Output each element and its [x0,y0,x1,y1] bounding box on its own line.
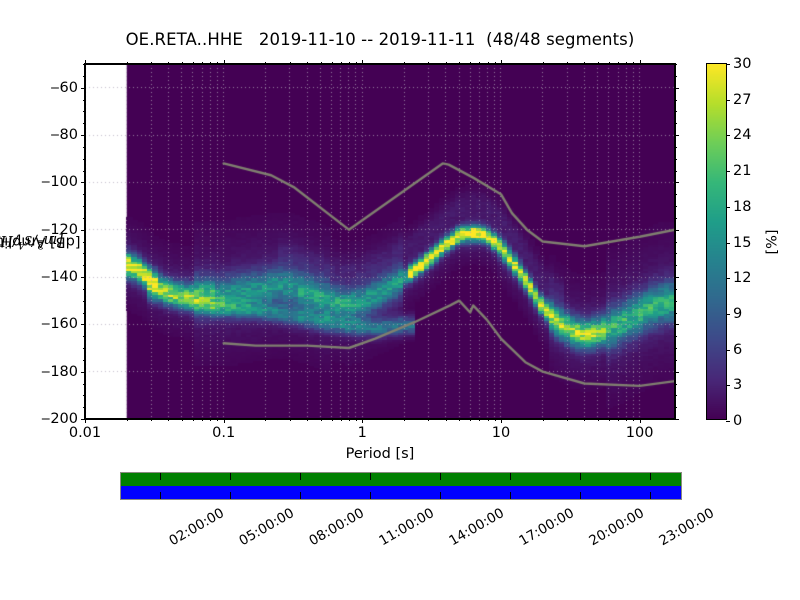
colorbar-tick [726,171,730,172]
axis-tick [83,289,85,290]
y-tick-label: ‒140 [41,269,78,285]
coverage-tick-label: 08:00:00 [306,505,367,549]
colorbar-tick-label: 18 [733,199,751,215]
colorbar-tick [726,350,730,351]
axis-tick [341,419,342,421]
axis-tick [584,62,585,64]
y-tick-label: ‒160 [41,316,78,332]
axis-tick [675,111,677,112]
colorbar-tick [726,385,730,386]
y-tick-label: ‒180 [41,364,78,380]
x-axis-title: Period [s] [84,446,676,462]
axis-tick [83,147,85,148]
x-tick-label: 1 [358,425,367,441]
axis-tick [210,419,211,421]
axis-tick [349,62,350,64]
axis-tick [83,407,85,408]
coverage-tick [370,473,371,480]
axis-tick [675,265,677,266]
coverage-tick [370,492,371,499]
coverage-tick [580,492,581,499]
axis-tick [83,313,85,314]
axis-tick [83,360,85,361]
axis-tick [675,348,677,349]
ppsd-plot-area[interactable]: ‒60‒80‒100‒120‒140‒160‒180‒2000.010.1110… [84,63,676,420]
colorbar-tick [726,243,730,244]
colorbar-tick-label: 21 [733,163,751,179]
coverage-tick [160,473,161,480]
page-title: OE.RETA..HHE 2019-11-10 -- 2019-11-11 (4… [84,30,676,49]
axis-tick [356,419,357,421]
axis-tick [83,100,85,101]
axis-tick [362,60,363,64]
axis-tick [83,301,85,302]
axis-tick [640,60,641,64]
axis-tick [675,76,677,77]
axis-tick [83,76,85,77]
axis-tick [81,230,85,231]
coverage-band-data-coverage [121,473,681,486]
axis-tick [470,419,471,421]
axis-tick [83,395,85,396]
coverage-tick [160,492,161,499]
axis-tick [675,159,677,160]
colorbar-tick-label: 3 [733,377,742,393]
axis-tick [501,419,502,423]
axis-tick [479,419,480,421]
coverage-tick [230,492,231,499]
axis-tick [584,419,585,421]
axis-tick [193,62,194,64]
axis-tick [428,62,429,64]
axis-tick [321,419,322,421]
colorbar-tick-label: 15 [733,235,751,251]
axis-tick [290,419,291,421]
axis-tick [675,407,677,408]
axis-tick [495,419,496,421]
coverage-tick [580,473,581,480]
axis-tick [675,206,677,207]
x-tick-label: 0.01 [69,425,101,441]
axis-tick [81,135,85,136]
axis-tick [202,419,203,421]
axis-tick [83,384,85,385]
axis-tick [675,64,677,65]
axis-tick [543,419,544,421]
coverage-tick [230,473,231,480]
axis-tick [356,62,357,64]
axis-tick [618,419,619,421]
axis-tick [193,419,194,421]
axis-tick [265,419,266,421]
coverage-band-psd-segments [121,486,681,499]
axis-tick [81,372,85,373]
axis-tick [675,100,677,101]
coverage-tick [650,492,651,499]
axis-tick [332,419,333,421]
axis-tick [675,147,677,148]
colorbar-tick [726,135,730,136]
axis-tick [85,419,86,423]
coverage-tick [440,492,441,499]
coverage-tick [440,473,441,480]
coverage-tick-label: 05:00:00 [236,505,297,549]
axis-tick [675,289,677,290]
axis-tick [83,265,85,266]
axis-tick [81,182,85,183]
axis-tick [224,60,225,64]
axis-tick [341,62,342,64]
axis-tick [202,62,203,64]
axis-tick [633,62,634,64]
axis-tick [83,218,85,219]
coverage-tick-label: 11:00:00 [376,505,437,549]
axis-tick [83,348,85,349]
axis-tick [675,230,679,231]
axis-tick [182,62,183,64]
axis-tick [151,62,152,64]
axis-tick [675,194,677,195]
axis-tick [675,336,677,337]
axis-tick [459,62,460,64]
y-tick-label: ‒100 [41,174,78,190]
axis-tick [83,123,85,124]
coverage-tick-label: 14:00:00 [446,505,507,549]
colorbar[interactable]: 036912151821242730 [706,63,727,420]
axis-tick [217,419,218,421]
axis-tick [598,62,599,64]
axis-tick [495,62,496,64]
axis-tick [640,419,641,423]
axis-tick [633,419,634,421]
x-tick-label: 10 [492,425,510,441]
colorbar-tick-label: 30 [733,56,751,72]
axis-tick [290,62,291,64]
axis-tick [83,253,85,254]
axis-tick [265,62,266,64]
coverage-tick-label: 17:00:00 [516,505,577,549]
coverage-tick-label: 02:00:00 [166,505,227,549]
axis-tick [626,62,627,64]
colorbar-tick-label: 0 [733,413,742,429]
axis-tick [675,171,677,172]
axis-tick [404,62,405,64]
coverage-tick-label: 23:00:00 [656,505,717,549]
colorbar-tick-label: 27 [733,92,751,108]
x-tick-label: 100 [626,425,654,441]
axis-tick [459,419,460,421]
axis-tick [83,336,85,337]
axis-tick [83,111,85,112]
colorbar-tick-label: 24 [733,127,751,143]
axis-tick [127,62,128,64]
axis-tick [446,62,447,64]
colorbar-tick-label: 12 [733,270,751,286]
axis-tick [307,62,308,64]
axis-tick [470,62,471,64]
axis-tick [81,324,85,325]
axis-tick [675,313,677,314]
y-tick-label: ‒80 [50,127,78,143]
colorbar-tick-label: 9 [733,306,742,322]
axis-tick [83,206,85,207]
axis-tick [543,62,544,64]
axis-tick [479,62,480,64]
axis-tick [675,301,677,302]
y-tick-label: ‒60 [50,80,78,96]
x-tick-label: 0.1 [212,425,235,441]
axis-tick [168,62,169,64]
colorbar-tick [726,207,730,208]
axis-tick [675,324,679,325]
axis-tick [446,419,447,421]
axis-tick [675,242,677,243]
axis-tick [675,360,677,361]
axis-tick [675,182,679,183]
axis-tick [81,88,85,89]
axis-tick [127,419,128,421]
axis-tick [609,419,610,421]
colorbar-title: [%] [762,63,784,420]
axis-tick [362,419,363,423]
axis-tick [217,62,218,64]
axis-tick [675,218,677,219]
axis-tick [83,64,85,65]
axis-tick [83,194,85,195]
colorbar-tick [726,64,730,65]
axis-tick [675,395,677,396]
coverage-tick [510,492,511,499]
colorbar-gradient [707,64,726,419]
axis-tick [675,135,679,136]
axis-tick [675,123,677,124]
axis-tick [404,419,405,421]
axis-tick [618,62,619,64]
axis-tick [675,277,679,278]
axis-tick [501,60,502,64]
axis-tick [675,372,679,373]
y-tick-label: ‒120 [41,222,78,238]
colorbar-tick [726,421,730,422]
axis-tick [83,159,85,160]
axis-tick [609,62,610,64]
coverage-tick [650,473,651,480]
axis-tick [488,419,489,421]
y-axis-title: Amplitude [m2/s4/Hz] [dB] [14,63,36,420]
axis-tick [488,62,489,64]
coverage-tick-label: 20:00:00 [586,505,647,549]
axis-tick [675,253,677,254]
coverage-bar[interactable]: 02:00:0005:00:0008:00:0011:00:0014:00:00… [120,472,682,500]
axis-tick [182,419,183,421]
axis-tick [349,419,350,421]
axis-tick [598,419,599,421]
axis-tick [81,277,85,278]
axis-tick [168,419,169,421]
axis-tick [210,62,211,64]
axis-tick [675,88,679,89]
colorbar-tick [726,278,730,279]
coverage-tick [510,473,511,480]
coverage-tick [300,492,301,499]
ppsd-histogram-canvas [85,64,675,419]
coverage-tick [300,473,301,480]
axis-tick [567,62,568,64]
axis-tick [626,419,627,421]
colorbar-tick-label: 6 [733,342,742,358]
axis-tick [307,419,308,421]
axis-tick [675,384,677,385]
axis-tick [332,62,333,64]
colorbar-tick [726,100,730,101]
axis-tick [151,419,152,421]
axis-tick [83,242,85,243]
axis-tick [675,419,679,420]
ppsd-figure: OE.RETA..HHE 2019-11-10 -- 2019-11-11 (4… [0,0,800,600]
axis-tick [83,171,85,172]
axis-tick [85,60,86,64]
axis-tick [321,62,322,64]
colorbar-tick [726,314,730,315]
axis-tick [428,419,429,421]
axis-tick [567,419,568,421]
axis-tick [224,419,225,423]
